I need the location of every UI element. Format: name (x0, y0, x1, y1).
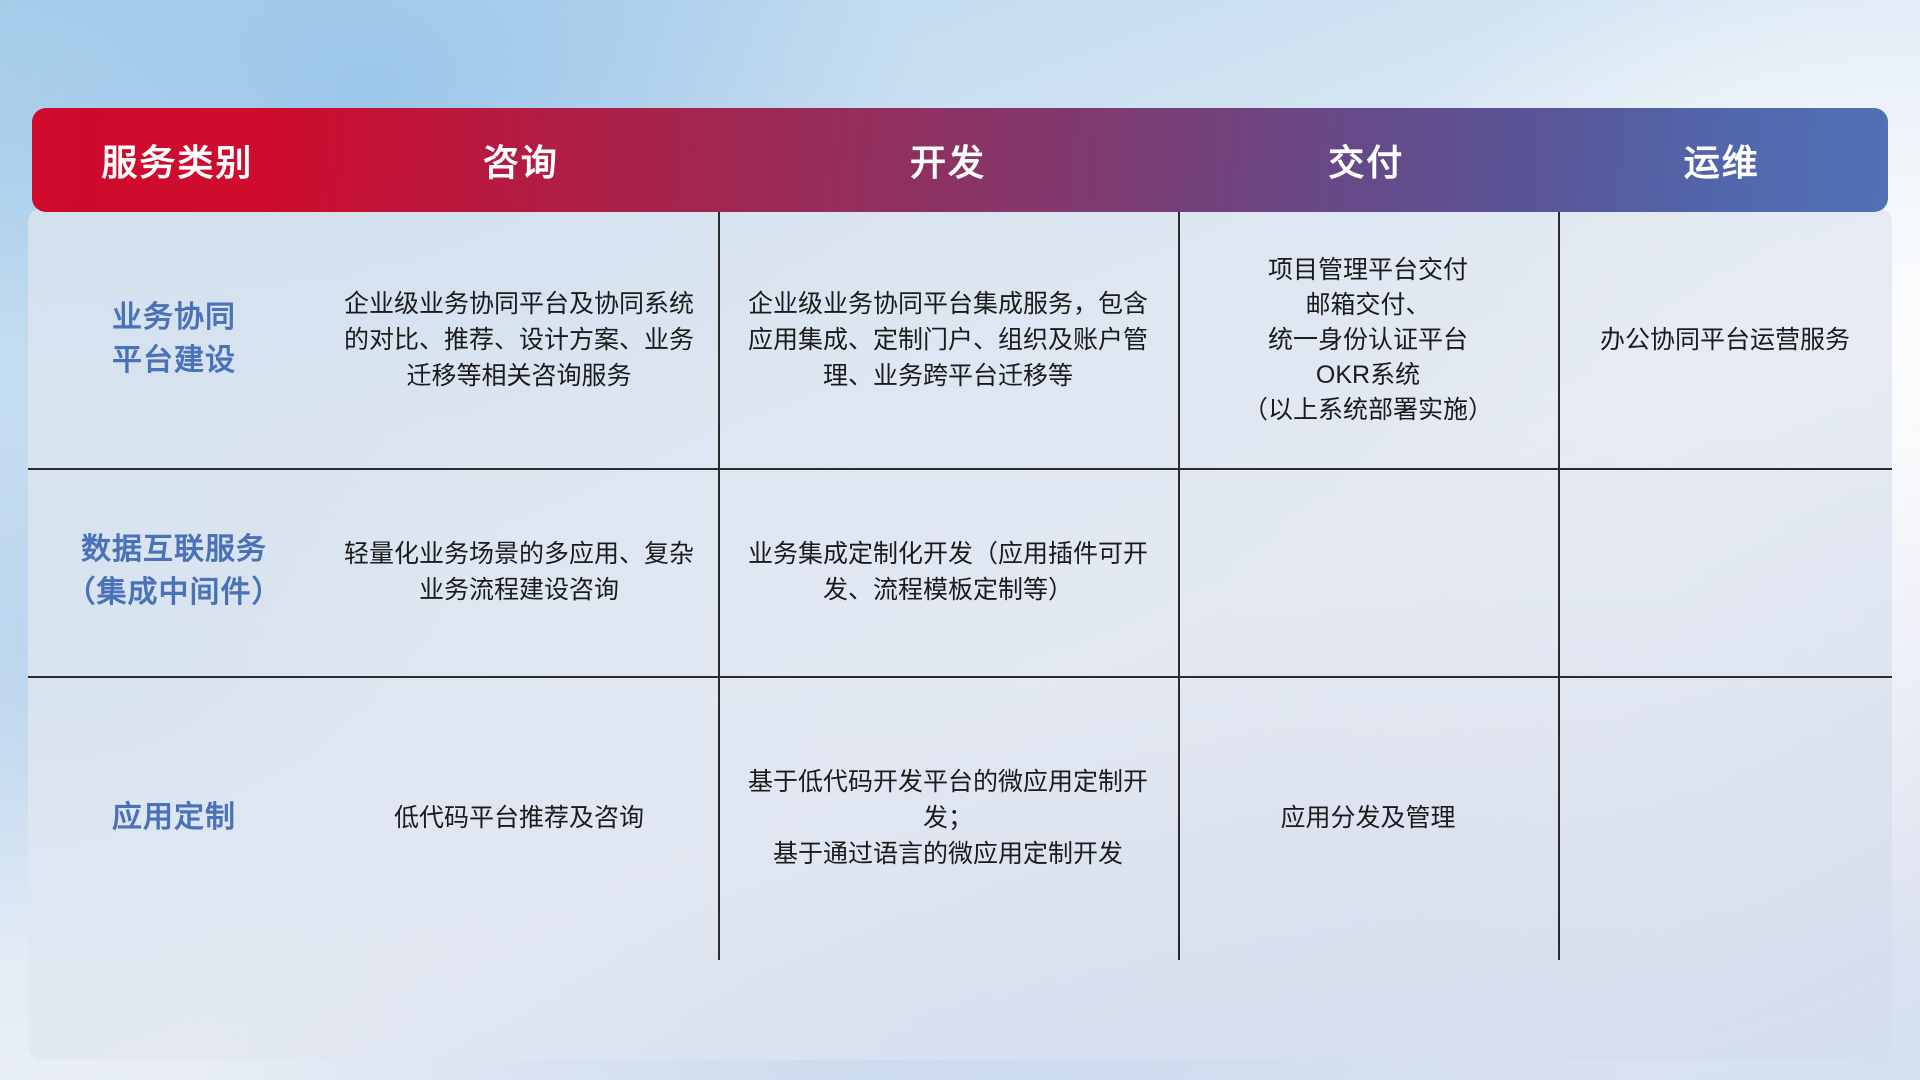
cell-consulting: 低代码平台推荐及咨询 (320, 676, 718, 960)
row-category-line: 数据互联服务 (66, 529, 283, 572)
table-row: 数据互联服务 （集成中间件） 轻量化业务场景的多应用、复杂业务流程建设咨询 业务… (28, 468, 1892, 676)
header-cell-development: 开发 (719, 134, 1177, 186)
row-category-line: （集成中间件） (66, 572, 283, 615)
cell-operations: 办公协同平台运营服务 (1558, 212, 1892, 468)
cell-delivery-line: 邮箱交付、 (1243, 288, 1493, 323)
service-category-table: 服务类别 咨询 开发 交付 运维 业务协同 平台建设 企业级业务协同平台及协同系… (28, 108, 1892, 960)
header-cell-operations: 运维 (1555, 134, 1888, 186)
cell-delivery-line: （以上系统部署实施） (1243, 393, 1493, 428)
cell-delivery-line: 统一身份认证平台 (1243, 323, 1493, 358)
cell-development: 企业级业务协同平台集成服务，包含应用集成、定制门户、组织及账户管理、业务跨平台迁… (718, 212, 1178, 468)
cell-operations (1558, 676, 1892, 960)
table-header-row: 服务类别 咨询 开发 交付 运维 (32, 108, 1888, 212)
cell-consulting: 企业级业务协同平台及协同系统的对比、推荐、设计方案、业务迁移等相关咨询服务 (320, 212, 718, 468)
cell-development: 业务集成定制化开发（应用插件可开发、流程模板定制等） (718, 468, 1178, 676)
cell-delivery-line: OKR系统 (1243, 358, 1493, 393)
cell-delivery (1178, 468, 1558, 676)
cell-delivery: 应用分发及管理 (1178, 676, 1558, 960)
header-cell-service-category: 服务类别 (32, 134, 323, 186)
header-cell-delivery: 交付 (1177, 134, 1555, 186)
row-category-label: 业务协同 平台建设 (28, 212, 320, 468)
row-category-label: 数据互联服务 （集成中间件） (28, 468, 320, 676)
table-rows: 业务协同 平台建设 企业级业务协同平台及协同系统的对比、推荐、设计方案、业务迁移… (28, 212, 1892, 960)
table-row: 业务协同 平台建设 企业级业务协同平台及协同系统的对比、推荐、设计方案、业务迁移… (28, 212, 1892, 468)
table-row: 应用定制 低代码平台推荐及咨询 基于低代码开发平台的微应用定制开发； 基于通过语… (28, 676, 1892, 960)
cell-development-line: 基于通过语言的微应用定制开发 (736, 836, 1160, 872)
cell-development-line: 基于低代码开发平台的微应用定制开发； (736, 764, 1160, 836)
header-cell-consulting: 咨询 (323, 134, 719, 186)
cell-delivery: 项目管理平台交付 邮箱交付、 统一身份认证平台 OKR系统 （以上系统部署实施） (1178, 212, 1558, 468)
cell-operations (1558, 468, 1892, 676)
row-category-label: 应用定制 (28, 676, 320, 960)
cell-consulting: 轻量化业务场景的多应用、复杂业务流程建设咨询 (320, 468, 718, 676)
cell-delivery-line: 应用分发及管理 (1280, 800, 1455, 836)
cell-development: 基于低代码开发平台的微应用定制开发； 基于通过语言的微应用定制开发 (718, 676, 1178, 960)
cell-delivery-line: 项目管理平台交付 (1243, 253, 1493, 288)
row-category-line: 业务协同 (112, 297, 236, 340)
row-category-line: 平台建设 (112, 340, 236, 383)
row-category-line: 应用定制 (112, 797, 236, 840)
